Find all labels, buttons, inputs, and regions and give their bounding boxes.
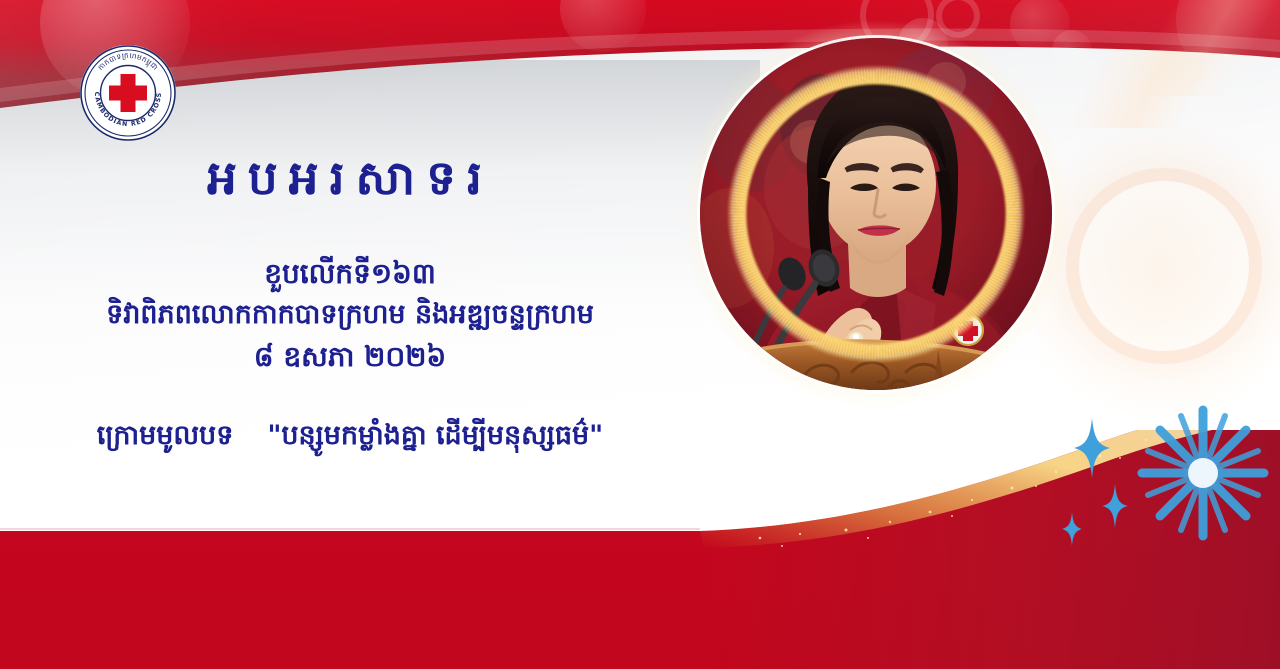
sparkle-diamond-medium-icon [1102,484,1128,528]
occasion-line: ទិវាពិភពលោកកាកបាទក្រហម និងអឌ្ឍចន្ទក្រហម [0,295,700,336]
starburst-icon [1128,398,1278,548]
anniversary-line: ខួបលើកទី១៦៣ [0,253,700,295]
theme-label: ក្រោមមូលបទ [97,420,234,451]
cambodian-red-cross-logo: កាកបាទក្រហមកម្ពុជា CAMBODIAN RED CROSS [79,44,177,142]
theme-line: ក្រោមមូលបទ"បន្សូមកម្លាំងគ្នា ដើម្បីមនុស្… [0,416,700,455]
poster-text-block: អបអរសាទរ ខួបលើកទី១៦៣ ទិវាពិភពលោកកាកបាទក្… [0,150,700,455]
sparkle-diamond-large-icon [1074,418,1110,478]
poster-canvas: កាកបាទក្រហមកម្ពុជា CAMBODIAN RED CROSS អ… [0,0,1280,669]
date-line: ៨ ឧសភា ២០២៦ [0,336,700,378]
sparkle-diamond-small-icon [1062,512,1082,546]
page-title: អបអរសាទរ [0,150,700,207]
gold-glitter-ring [685,23,1067,405]
theme-quote: "បន្សូមកម្លាំងគ្នា ដើម្បីមនុស្សធម៌" [267,420,603,451]
portrait-frame [700,38,1052,390]
